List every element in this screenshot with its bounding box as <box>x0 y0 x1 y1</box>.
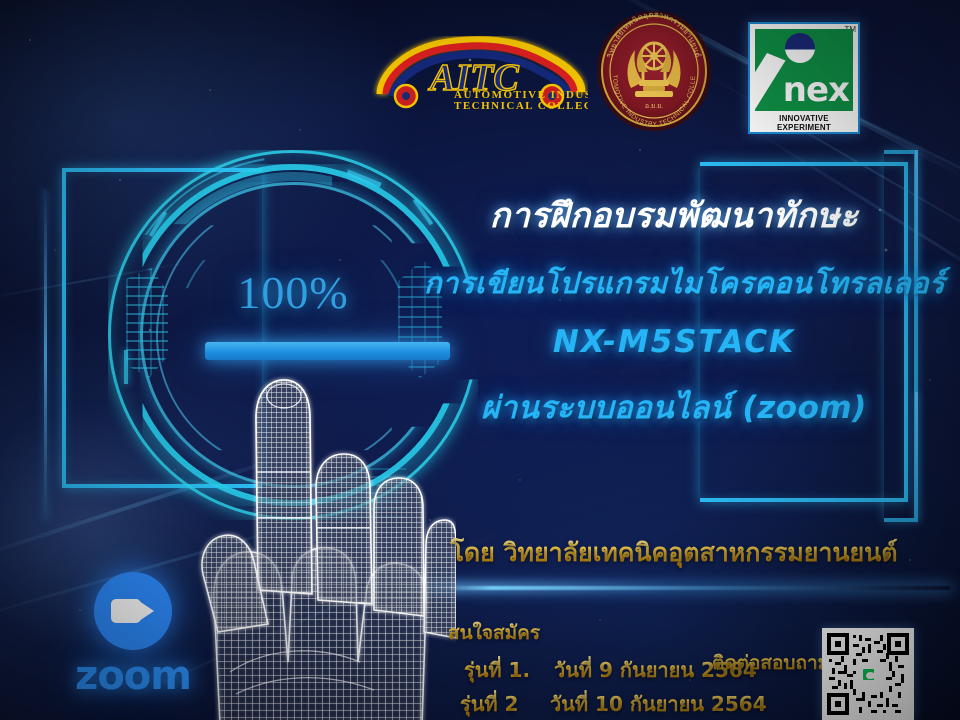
svg-text:อ.ย.ย.: อ.ย.ย. <box>645 103 663 110</box>
promo-poster: 100% <box>0 0 960 720</box>
qr-finder-bottom-left <box>827 693 849 715</box>
qr-finder-top-left <box>827 633 849 655</box>
hud-circuit-pattern-left <box>126 268 168 378</box>
aitc-logo: AITC AUTOMOTIVE INDUSTRY TECHNICAL COLLE… <box>372 28 588 112</box>
camera-lens-shape <box>139 601 154 621</box>
inex-logo: TM nex INNOVATIVE EXPERIMENT <box>748 22 860 134</box>
qr-finder-top-right <box>887 633 909 655</box>
inex-head-dot <box>785 33 815 63</box>
inex-wordmark: nex <box>783 73 849 107</box>
batch-2-date: วันที่ 10 กันยายน 2564 <box>550 688 767 720</box>
organizer-line: โดย วิทยาลัยเทคนิคอุตสาหกรรมยานยนต์ <box>424 533 924 573</box>
hud-tick <box>149 211 167 237</box>
inex-slash-mark <box>755 53 786 111</box>
light-streak <box>0 260 197 302</box>
line-chat-icon <box>861 667 876 682</box>
batch-2-label: รุ่นที่ 2 <box>460 688 536 720</box>
batch-1-label: รุ่นที่ 1. <box>464 654 540 686</box>
svg-text:TECHNICAL COLLEGE: TECHNICAL COLLEGE <box>454 100 588 112</box>
headline-line-4-platform: ผ่านระบบออนไลน์ (zoom) <box>424 382 924 432</box>
hud-tick <box>124 350 128 384</box>
college-seal-logo: วิทยาลัยเทคนิคอุตสาหกรรมยานยนต์ ◆ AUTOMO… <box>595 10 713 132</box>
hud-tick <box>346 169 381 187</box>
wireframe-hand-illustration <box>196 332 456 720</box>
logo-row: AITC AUTOMOTIVE INDUSTRY TECHNICAL COLLE… <box>0 0 960 150</box>
headline-line-1: การฝึกอบรมพัฒนาทักษะ <box>424 196 924 236</box>
hud-percent-label: 100% <box>108 266 478 319</box>
inex-green-square: nex <box>755 29 853 111</box>
camera-body-shape <box>111 599 141 623</box>
frame-accent-line-left <box>44 190 47 520</box>
inex-tagline: INNOVATIVE EXPERIMENT <box>755 114 853 132</box>
contact-label: ติดต่อสอบถาม <box>712 648 830 678</box>
batch-row-2: รุ่นที่ 2 วันที่ 10 กันยายน 2564 <box>460 688 767 720</box>
zoom-logo: zoom <box>58 572 208 714</box>
apply-heading: สนใจสมัคร <box>448 618 540 648</box>
headline-block: การฝึกอบรมพัฒนาทักษะ การเขียนโปรแกรมไมโค… <box>424 196 924 432</box>
headline-line-3-product: NX-M5STACK <box>424 324 924 360</box>
qr-canvas <box>827 633 909 715</box>
headline-line-2: การเขียนโปรแกรมไมโครคอนโทรลเลอร์ <box>424 266 924 300</box>
zoom-wordmark: zoom <box>58 656 208 696</box>
line-qr-code[interactable] <box>822 628 914 720</box>
horizon-light-beam <box>430 586 950 590</box>
zoom-video-camera-icon <box>94 572 172 650</box>
